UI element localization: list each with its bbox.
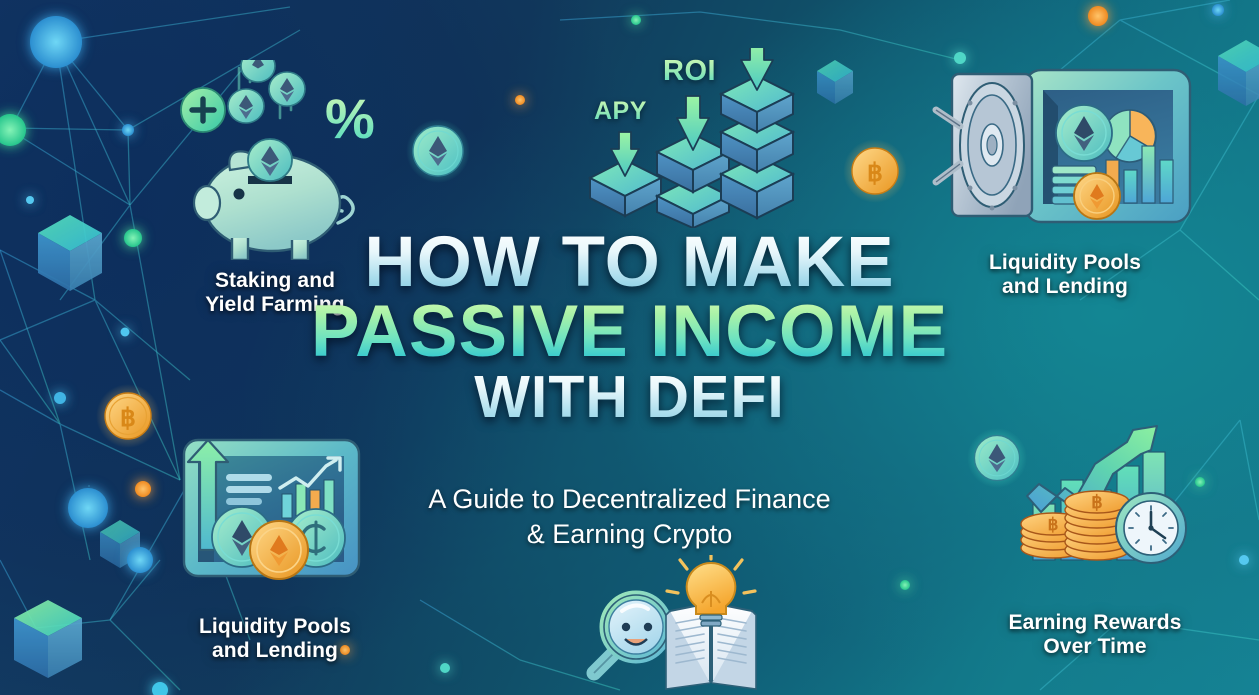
vault-door-icon bbox=[936, 74, 1032, 216]
poster-title-block: HOW TO MAKE PASSIVE INCOME WITH DEFI bbox=[0, 228, 1259, 427]
magnifying-glass-smiley-icon bbox=[604, 595, 668, 659]
eth-token-left bbox=[405, 118, 471, 184]
roi-label: ROI bbox=[663, 55, 716, 88]
title-line-2: PASSIVE INCOME bbox=[0, 296, 1259, 368]
quadrant-label-liquidity-bottom: Liquidity Pools and Lending bbox=[150, 615, 400, 662]
title-line-3: WITH DEFI bbox=[0, 369, 1259, 427]
apy-label: APY bbox=[594, 97, 647, 126]
btc-token-right: ฿ bbox=[842, 138, 908, 204]
research-learning-graphic bbox=[570, 555, 780, 695]
ethereum-coin-icon bbox=[1056, 105, 1112, 161]
percent-symbol-icon: % bbox=[325, 87, 375, 150]
title-line-1: HOW TO MAKE bbox=[0, 228, 1259, 298]
quadrant-label-earning-rewards: Earning Rewards Over Time bbox=[985, 611, 1205, 658]
apy-roi-growth-graphic: APY ROI bbox=[565, 48, 815, 228]
defi-infographic-poster: ฿ ฿ bbox=[0, 0, 1259, 695]
svg-text:฿: ฿ bbox=[867, 159, 883, 187]
poster-subtitle: A Guide to Decentralized Finance & Earni… bbox=[0, 482, 1259, 551]
vault-safe-icon bbox=[930, 48, 1200, 244]
gold-eth-coin-icon bbox=[1074, 173, 1120, 219]
